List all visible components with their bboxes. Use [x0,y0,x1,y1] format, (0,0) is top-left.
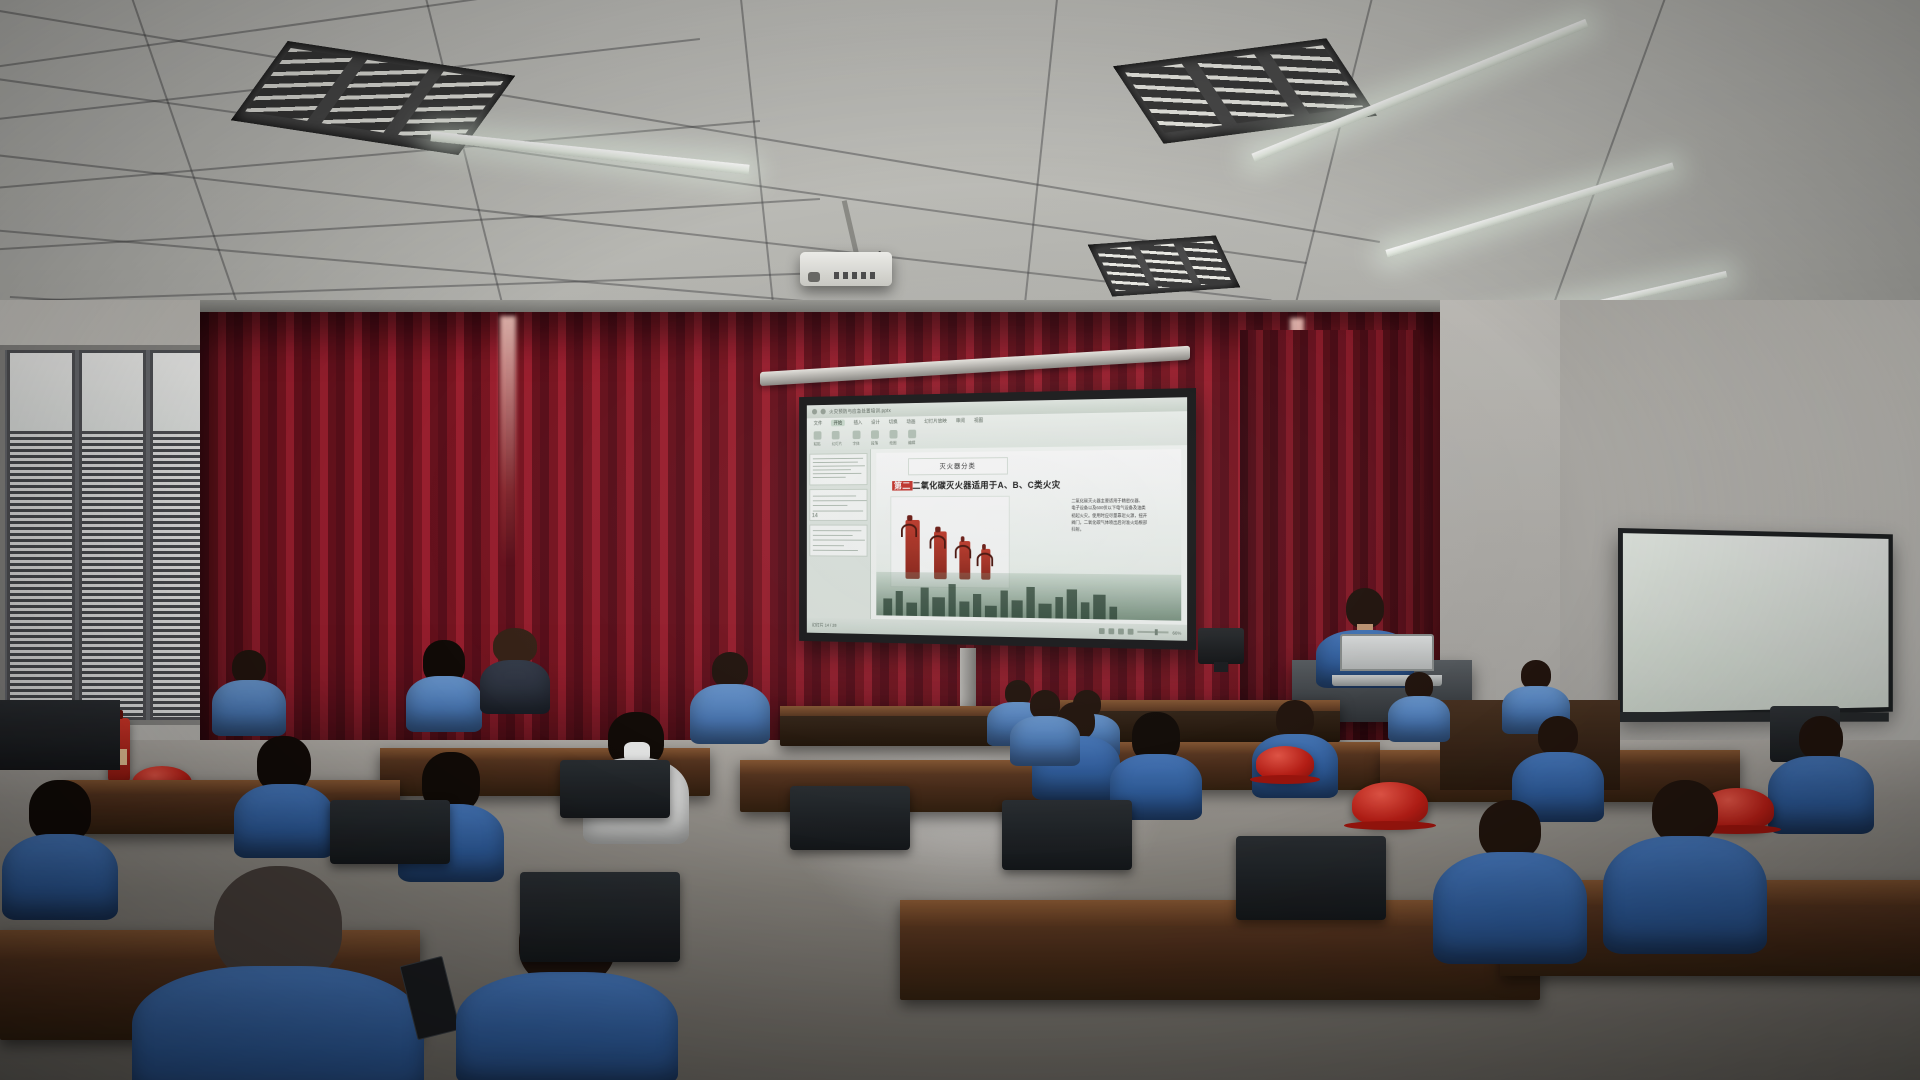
desk-monitor [1198,628,1244,664]
ribbon-tab-file[interactable]: 文件 [814,420,823,427]
desk-monitor-stand [1214,662,1228,672]
attendee [0,780,120,910]
projection-screen[interactable]: 火灾预防与应急处置培训.pptx 文件 开始 插入 设计 切换 动画 幻灯片放映… [799,388,1196,650]
projector [800,252,892,286]
attendee-head [1479,800,1541,860]
slideshow-icon[interactable] [1128,629,1134,635]
attendee [404,640,484,726]
ribbon-group-slide[interactable]: 幻灯片 [832,431,842,447]
ppt-window-icon [812,409,817,415]
current-slide: 灭火器分类 第二二氧化碳灭火器适用于A、B、C类火灾 [876,449,1181,621]
ribbon-tab-animations[interactable]: 动画 [906,418,915,425]
ceiling-strip-light [430,131,749,174]
ribbon-group-drawing[interactable]: 绘图 [890,430,898,446]
venetian-blind [82,434,144,717]
slide-heading-prefix: 第二 [892,481,912,491]
ppt-slide-thumbnail-pane[interactable]: 14 [807,449,871,619]
slide-position-indicator: 幻灯片 14 / 28 [812,622,837,628]
presenter-head [1346,588,1384,628]
window-with-blinds [0,345,225,725]
status-bar-right[interactable]: 66% [1099,628,1181,636]
attendee-torso [1433,852,1587,964]
slide-title-box: 灭火器分类 [908,457,1008,475]
attendee-torso [480,660,550,714]
attendee [1008,690,1082,764]
laptop-screen [1340,634,1434,671]
safety-helmet[interactable] [1352,782,1428,826]
ceiling-light-fixture [1088,235,1241,296]
ribbon-group-font[interactable]: 字体 [853,431,861,447]
slide-number: 14 [812,513,818,519]
chair-back [560,760,670,818]
ribbon-group-editing[interactable]: 编辑 [908,430,916,446]
attendee [210,650,288,732]
attendee-head [493,628,537,664]
attendee-head [232,650,266,684]
attendee [232,736,336,846]
ribbon-group-label: 幻灯片 [832,441,842,447]
slide-title-text: 灭火器分类 [939,461,975,471]
zoom-level: 66% [1172,630,1181,635]
slide-skyline-graphic [876,572,1181,621]
training-room-photo: 火灾预防与应急处置培训.pptx 文件 开始 插入 设计 切换 动画 幻灯片放映… [0,0,1920,1080]
slide-thumbnail[interactable] [809,525,867,557]
slide-sorter-icon[interactable] [1108,628,1114,634]
attendee-torso [1768,756,1874,834]
ribbon-group-paste[interactable]: 粘贴 [814,431,822,447]
slide-thumbnail[interactable]: 14 [809,489,867,521]
attendee-head [712,652,748,688]
slide-body-line: 扫射。 [1071,526,1175,533]
attendee-foreground [1430,800,1590,960]
ribbon-tab-view[interactable]: 视图 [974,417,983,424]
safety-helmet[interactable] [1256,746,1314,780]
attendee-torso [2,834,118,920]
zoom-slider[interactable] [1137,631,1168,634]
extinguisher-illustration [905,520,919,579]
new-slide-icon [832,431,840,440]
window-pane [7,350,75,720]
slide-body-line: 阀门，二氧化碳气体喷出后对准火焰根部 [1071,519,1175,526]
attendee-head [1538,716,1578,756]
ribbon-group-label: 段落 [871,441,879,447]
chair-back [1002,800,1132,870]
chair-back [790,786,910,850]
reading-view-icon[interactable] [1118,628,1124,634]
slide-heading: 第二二氧化碳灭火器适用于A、B、C类火灾 [892,477,1173,491]
side-table [0,700,120,770]
attendee-torso [1010,716,1080,766]
ppt-document-title: 火灾预防与应急处置培训.pptx [829,407,891,415]
attendee-torso [1603,836,1767,954]
slide-body-line: 初起火灾。使用时应尽量靠近火源，扭开 [1071,512,1175,519]
attendee [1386,672,1452,738]
attendee-head [1799,716,1843,760]
chair-back [1236,836,1386,920]
attendee-torso [456,972,678,1080]
whiteboard[interactable] [1618,528,1893,718]
attendee-torso [1388,696,1450,742]
attendee-foreground [128,866,428,1080]
attendee-torso [406,676,482,732]
slide-body-text: 二氧化碳灭火器主要适用于精密仪器、 电子设备以及600伏以下电气设备及油类 初起… [1071,497,1175,533]
ribbon-group-label: 字体 [853,441,861,447]
attendee [688,652,772,742]
window-transom [82,353,144,434]
ribbon-tab-home[interactable]: 开始 [831,420,845,427]
chair-back [330,800,450,864]
attendee-head [1652,780,1718,844]
window-transom [10,353,72,434]
attendee-torso [234,784,334,858]
attendee-torso [690,684,770,744]
whiteboard-surface[interactable] [1623,533,1889,713]
ribbon-group-label: 粘贴 [814,441,822,447]
ribbon-tab-slideshow[interactable]: 幻灯片放映 [924,418,946,425]
normal-view-icon[interactable] [1099,628,1105,634]
attendee [478,628,552,710]
font-icon [853,431,861,440]
ppt-workspace: 14 灭火器分类 第二二氧化碳灭火器适用于A、B、C类火灾 [807,445,1187,625]
window-pane [79,350,147,720]
attendee [1766,716,1876,832]
attendee-head [1276,700,1314,738]
ribbon-tab-insert[interactable]: 插入 [854,419,863,426]
shapes-icon [890,430,898,439]
ppt-slide-stage: 灭火器分类 第二二氧化碳灭火器适用于A、B、C类火灾 [871,445,1187,625]
ribbon-tab-transitions[interactable]: 切换 [889,419,898,426]
attendee [1108,712,1204,812]
projector-buttons [834,272,878,279]
paragraph-icon [871,430,879,439]
attendee-foreground [1600,780,1770,950]
ribbon-group-paragraph[interactable]: 段落 [871,430,879,446]
venetian-blind [10,434,72,717]
slide-thumbnail[interactable] [809,453,867,485]
paste-icon [814,431,822,440]
ribbon-tab-design[interactable]: 设计 [871,419,880,426]
attendee-torso [212,680,286,736]
ribbon-tab-review[interactable]: 审阅 [956,417,965,424]
screen-surface: 火灾预防与应急处置培训.pptx 文件 开始 插入 设计 切换 动画 幻灯片放映… [807,397,1187,641]
attendee-torso [132,966,424,1080]
chair-back [520,872,680,962]
ceiling-strip-light [1385,162,1674,257]
slide-heading-text: 二氧化碳灭火器适用于A、B、C类火灾 [912,480,1060,491]
face-mask [624,742,650,762]
ppt-save-icon [821,409,826,415]
projector-lens [808,272,820,282]
attendee-hair [29,780,91,842]
ribbon-group-label: 编辑 [908,440,916,446]
ribbon-group-label: 绘图 [890,440,898,446]
find-icon [908,430,916,439]
